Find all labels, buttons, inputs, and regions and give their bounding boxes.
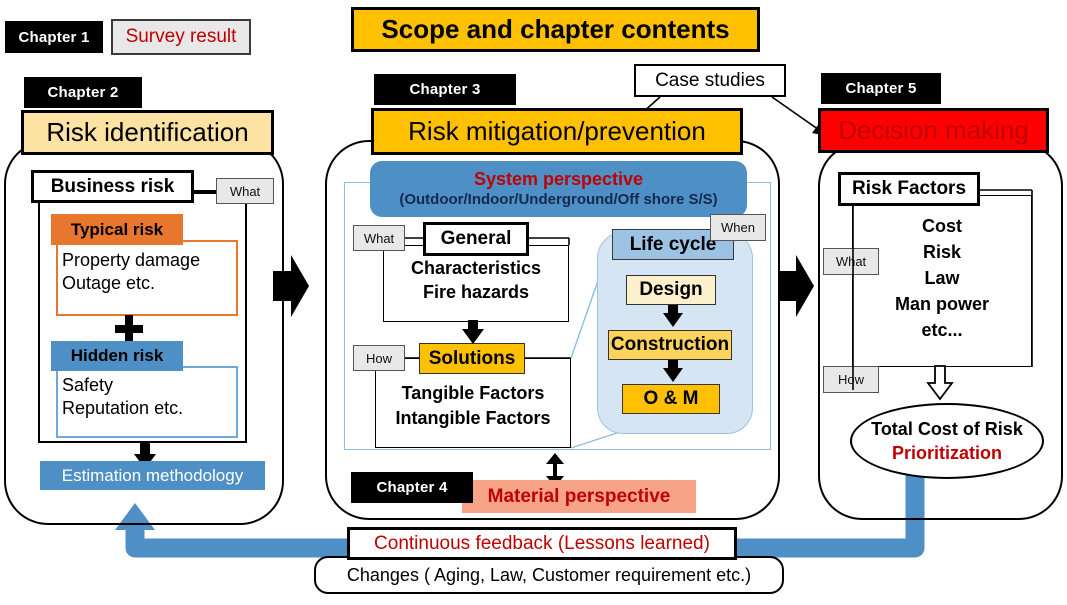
outcome-ellipse: Total Cost of Risk Prioritization xyxy=(850,403,1044,479)
risk-factors-to-outcome-arrow-icon xyxy=(927,366,953,400)
changes-box: Changes ( Aging, Law, Customer requireme… xyxy=(314,556,784,594)
outcome-line2: Prioritization xyxy=(892,441,1002,465)
continuous-feedback-box: Continuous feedback (Lessons learned) xyxy=(347,527,737,560)
chapter5-connectors xyxy=(0,0,1067,605)
diagram-canvas: Chapter 1 Survey result Scope and chapte… xyxy=(0,0,1067,605)
outcome-line1: Total Cost of Risk xyxy=(871,417,1023,441)
